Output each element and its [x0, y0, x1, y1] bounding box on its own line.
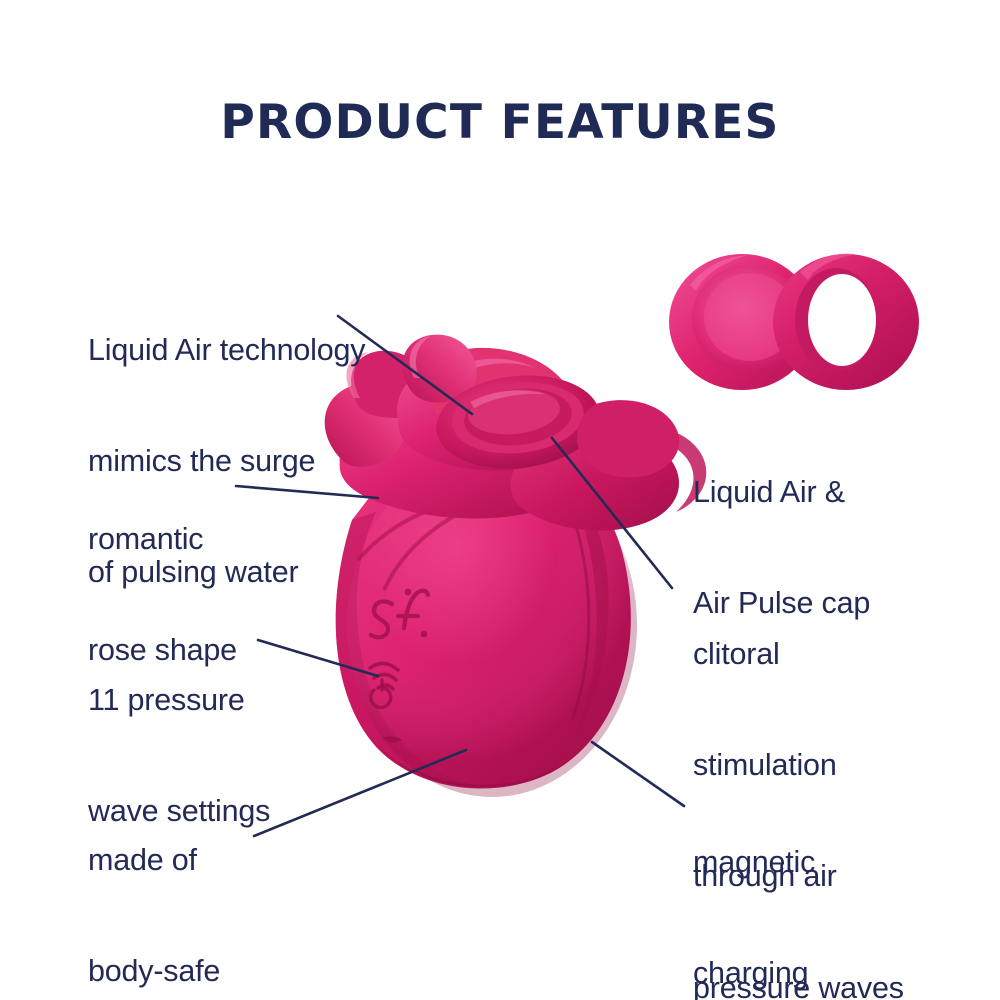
caps-group [669, 253, 919, 390]
callout-liquid-air-line-1: Liquid Air technology [88, 332, 365, 369]
callout-rose-shape-line-1: romantic [88, 521, 237, 558]
product-features-page: PRODUCT FEATURES [0, 0, 1000, 1000]
callout-clitoral-line-1: clitoral [693, 636, 904, 673]
callout-silicone: made of body-safe silicone [88, 768, 220, 1000]
rose-stimulator [325, 335, 707, 797]
callout-pressure-settings-line-1: 11 pressure [88, 682, 270, 719]
callout-cap-line-1: Liquid Air & [693, 474, 870, 511]
callout-silicone-line-1: made of [88, 842, 220, 879]
callout-magnetic-line-1: magnetic [693, 844, 839, 881]
air-pulse-cap [773, 253, 919, 390]
callout-magnetic-line-2: charging [693, 955, 839, 992]
callout-magnetic: magnetic charging connection [693, 770, 839, 1000]
callout-silicone-line-2: body-safe [88, 953, 220, 990]
